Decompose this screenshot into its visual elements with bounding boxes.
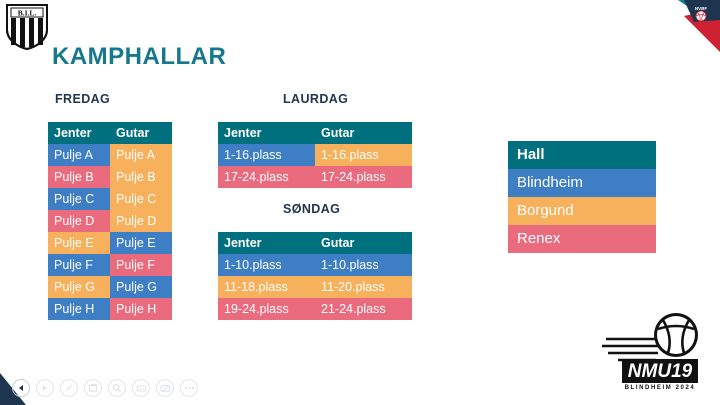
nmu19-subtitle: BLINDHEIM 2024: [625, 385, 696, 391]
fredag-schedule-table: Jenter Gutar Pulje APulje APulje BPulje …: [48, 122, 172, 320]
table-row: Borgund: [508, 197, 656, 225]
laurdag-schedule-table: Jenter Gutar 1-16.plass1-16.plass17-24.p…: [218, 122, 412, 188]
column-header-gutar: Gutar: [315, 232, 412, 254]
table-header-row: Jenter Gutar: [218, 232, 412, 254]
cell-gutar: Pulje D: [110, 210, 172, 232]
cell-gutar: Pulje F: [110, 254, 172, 276]
cell-jenter: 19-24.plass: [218, 298, 315, 320]
table-row: Pulje CPulje C: [48, 188, 172, 210]
column-header-gutar: Gutar: [315, 122, 412, 144]
cell-gutar: Pulje E: [110, 232, 172, 254]
cell-jenter: Pulje E: [48, 232, 110, 254]
day-label-fredag: FREDAG: [55, 92, 110, 106]
pen-tool-button[interactable]: [60, 379, 78, 397]
more-options-button[interactable]: [180, 379, 198, 397]
fredag-table-body: Pulje APulje APulje BPulje BPulje CPulje…: [48, 144, 172, 320]
cell-gutar: Pulje B: [110, 166, 172, 188]
subtitles-icon: [136, 383, 147, 394]
screen-off-icon: [160, 383, 171, 394]
grid-icon: [88, 383, 98, 393]
table-row: Pulje DPulje D: [48, 210, 172, 232]
laurdag-table-body: 1-16.plass1-16.plass17-24.plass17-24.pla…: [218, 144, 412, 188]
table-row: Renex: [508, 225, 656, 253]
column-header-jenter: Jenter: [48, 122, 110, 144]
table-row: 1-16.plass1-16.plass: [218, 144, 412, 166]
cell-hall-name: Blindheim: [508, 169, 656, 197]
table-row: Blindheim: [508, 169, 656, 197]
cell-jenter: Pulje H: [48, 298, 110, 320]
nmu19-title: NMU19: [628, 361, 693, 382]
table-row: 17-24.plass17-24.plass: [218, 166, 412, 188]
column-header-jenter: Jenter: [218, 122, 315, 144]
cell-jenter: Pulje F: [48, 254, 110, 276]
page-title: KAMPHALLAR: [52, 43, 226, 71]
presentation-toolbar[interactable]: [12, 379, 198, 397]
cell-gutar: 11-20.plass: [315, 276, 412, 298]
pen-icon: [64, 383, 74, 393]
cell-jenter: 17-24.plass: [218, 166, 315, 188]
nvbf-corner-graphic: NVBF: [648, 0, 720, 52]
cell-jenter: 1-10.plass: [218, 254, 315, 276]
shield-text: B.I.L.: [18, 8, 37, 17]
day-label-laurdag: LAURDAG: [283, 92, 348, 106]
table-row: Pulje APulje A: [48, 144, 172, 166]
screen-blank-button[interactable]: [156, 379, 174, 397]
column-header-hall: Hall: [508, 141, 656, 169]
cell-gutar: 1-10.plass: [315, 254, 412, 276]
table-header-row: Jenter Gutar: [48, 122, 172, 144]
table-header-row: Jenter Gutar: [218, 122, 412, 144]
table-row: Pulje BPulje B: [48, 166, 172, 188]
cell-hall-name: Renex: [508, 225, 656, 253]
cell-jenter: 1-16.plass: [218, 144, 315, 166]
triangle-left-icon: [17, 384, 25, 392]
cell-jenter: Pulje A: [48, 144, 110, 166]
table-header-row: Hall: [508, 141, 656, 169]
cell-hall-name: Borgund: [508, 197, 656, 225]
day-label-sondag: SØNDAG: [283, 202, 340, 216]
cell-gutar: 21-24.plass: [315, 298, 412, 320]
table-row: Pulje EPulje E: [48, 232, 172, 254]
sondag-schedule-table: Jenter Gutar 1-10.plass1-10.plass11-18.p…: [218, 232, 412, 320]
slide-overview-button[interactable]: [84, 379, 102, 397]
cell-jenter: Pulje B: [48, 166, 110, 188]
cell-jenter: 11-18.plass: [218, 276, 315, 298]
previous-slide-button[interactable]: [12, 379, 30, 397]
column-header-gutar: Gutar: [110, 122, 172, 144]
bil-shield-logo: B.I.L.: [6, 4, 48, 50]
sondag-table-body: 1-10.plass1-10.plass11-18.plass11-20.pla…: [218, 254, 412, 320]
triangle-right-icon: [41, 384, 49, 392]
table-row: 19-24.plass21-24.plass: [218, 298, 412, 320]
table-row: 11-18.plass11-20.plass: [218, 276, 412, 298]
cell-gutar: Pulje G: [110, 276, 172, 298]
cell-gutar: Pulje H: [110, 298, 172, 320]
table-row: Pulje HPulje H: [48, 298, 172, 320]
hall-table-body: BlindheimBorgundRenex: [508, 169, 656, 253]
zoom-button[interactable]: [108, 379, 126, 397]
nvbf-label: NVBF: [695, 6, 708, 11]
cell-gutar: 17-24.plass: [315, 166, 412, 188]
presentation-slide: B.I.L. NVBF KAMPHALLAR FREDAG LAURDAG SØ…: [0, 0, 720, 405]
table-row: 1-10.plass1-10.plass: [218, 254, 412, 276]
table-row: Pulje FPulje F: [48, 254, 172, 276]
cell-jenter: Pulje D: [48, 210, 110, 232]
nmu19-logo: NMU19 BLINDHEIM 2024: [600, 309, 708, 393]
hall-legend-table: Hall BlindheimBorgundRenex: [508, 141, 656, 253]
subtitles-button[interactable]: [132, 379, 150, 397]
cell-gutar: Pulje C: [110, 188, 172, 210]
play-slideshow-button[interactable]: [36, 379, 54, 397]
cell-gutar: 1-16.plass: [315, 144, 412, 166]
magnifier-icon: [112, 383, 122, 393]
table-row: Pulje GPulje G: [48, 276, 172, 298]
cell-gutar: Pulje A: [110, 144, 172, 166]
ellipsis-icon: [184, 386, 195, 390]
column-header-jenter: Jenter: [218, 232, 315, 254]
cell-jenter: Pulje G: [48, 276, 110, 298]
cell-jenter: Pulje C: [48, 188, 110, 210]
